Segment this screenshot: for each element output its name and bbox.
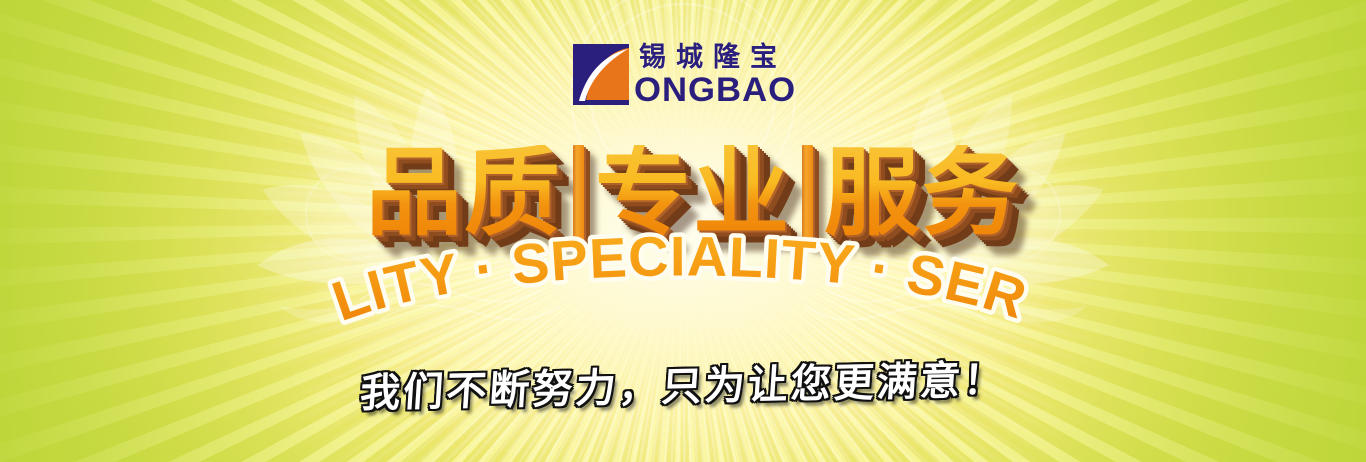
headline-segment-service: 服务 xyxy=(824,145,1020,241)
slogan: 我们不断努力，只为让您更满意！ xyxy=(0,352,1366,414)
headline-separator-1 xyxy=(573,145,584,241)
logo[interactable]: 锡城隆宝 ONGBAO xyxy=(573,44,793,107)
headline-separator-2 xyxy=(802,145,813,241)
promo-banner: 锡城隆宝 ONGBAO ONGBAO 品质 专业 服务 xyxy=(0,0,1366,462)
headline-segment-speciality: 专业 xyxy=(595,145,791,241)
headline: 品质 专业 服务 xyxy=(0,128,1366,258)
logo-block: 锡城隆宝 ONGBAO xyxy=(0,44,1366,114)
logo-company-en: ONGBAO xyxy=(634,73,796,107)
logo-wordmark: 锡城隆宝 ONGBAO xyxy=(639,44,793,107)
logo-company-cn: 锡城隆宝 xyxy=(639,44,787,71)
longbao-logo-mark-icon xyxy=(573,44,629,105)
slogan-text: 我们不断努力，只为让您更满意！ xyxy=(358,347,1008,418)
headline-segment-quality: 品质 xyxy=(366,145,562,241)
